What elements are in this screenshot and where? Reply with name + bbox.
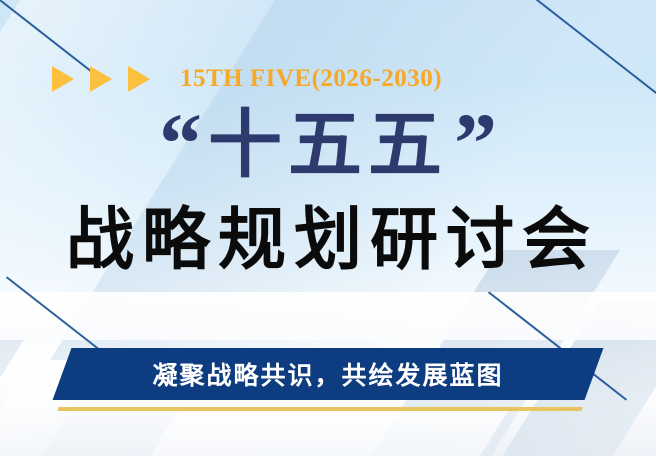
kicker-label: 15TH FIVE(2026-2030) [180, 65, 442, 93]
headline-text: 战略规划研讨会 [0, 205, 656, 276]
play-triangle-icon [90, 66, 112, 92]
subtitle-banner: 凝聚战略共识，共绘发展蓝图 [62, 348, 594, 400]
kicker-row: 15TH FIVE(2026-2030) [52, 62, 442, 96]
play-triangle-icon [52, 66, 74, 92]
gold-underline-rule [57, 407, 582, 411]
poster-content: 15TH FIVE(2026-2030) “ 十五五 ” 战略规划研讨会 凝聚战… [0, 0, 656, 456]
poster-canvas: 15TH FIVE(2026-2030) “ 十五五 ” 战略规划研讨会 凝聚战… [0, 0, 656, 456]
main-title-row: “ 十五五 ” [0, 104, 656, 183]
quote-open-mark: “ [159, 104, 202, 183]
quote-close-mark: ” [454, 104, 497, 183]
subtitle-text: 凝聚战略共识，共绘发展蓝图 [152, 356, 503, 392]
play-triangle-icon [128, 66, 150, 92]
main-title-text: 十五五 [208, 108, 448, 182]
